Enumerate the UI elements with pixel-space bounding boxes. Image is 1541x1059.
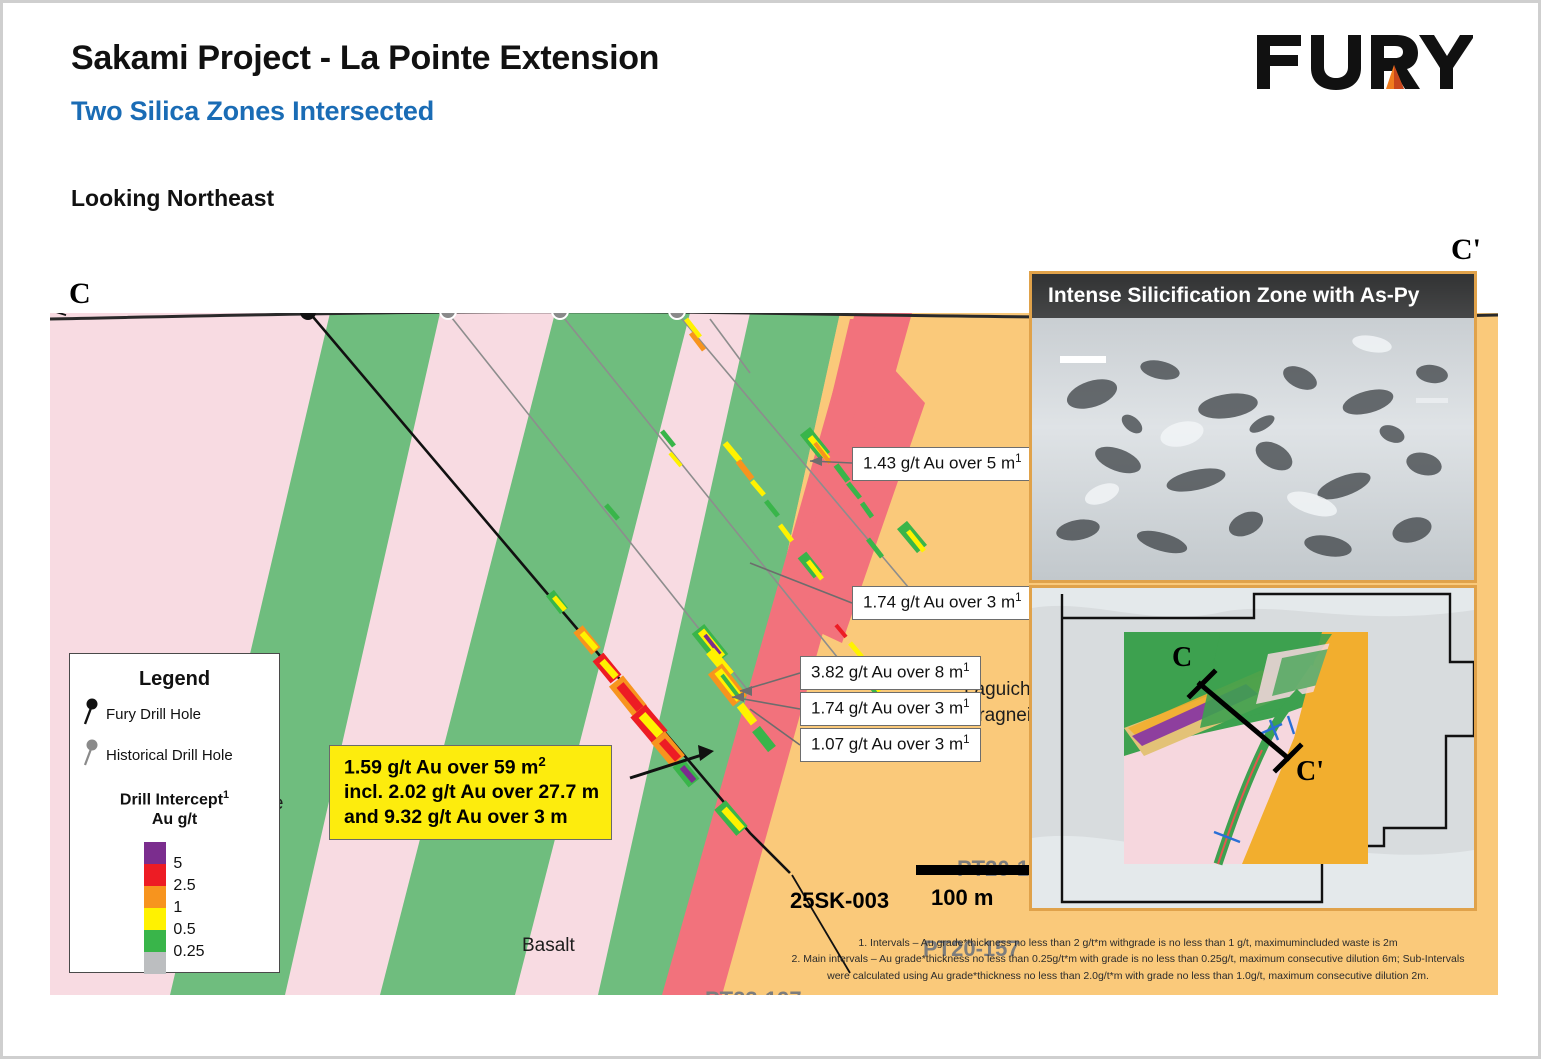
fury-drill-hole-icon <box>80 697 102 732</box>
ramp-swatch-5 <box>144 842 166 864</box>
legend-panel: Legend Fury Drill Hole Historical Drill … <box>69 653 280 973</box>
page-title: Sakami Project - La Pointe Extension <box>71 39 659 78</box>
legend-item-fury-drill-hole: Fury Drill Hole <box>80 697 279 732</box>
callout-intercept-1: 1.43 g/t Au over 5 m1 <box>852 447 1033 481</box>
callout-1-sup: 1 <box>1015 453 1021 465</box>
scale-bar-label: 100 m <box>931 885 993 911</box>
legend-ramp-title: Drill Intercept1 Au g/t <box>70 789 279 830</box>
legend-title: Legend <box>70 668 279 691</box>
footnote-line-1: 1. Intervals – Au grade*thickness no les… <box>763 935 1493 951</box>
legend-item-fury-label: Fury Drill Hole <box>106 706 201 723</box>
core-photo-inset: Intense Silicification Zone with As-Py <box>1029 271 1477 583</box>
ramp-swatch-base <box>144 952 166 974</box>
ramp-swatch-1 <box>144 886 166 908</box>
core-photo-image <box>1032 274 1474 580</box>
color-ramp-swatches <box>144 842 166 974</box>
callout-5-sup: 1 <box>963 734 969 746</box>
ramp-value-1: 1 <box>173 897 204 919</box>
callout-4-sup: 1 <box>963 698 969 710</box>
highlight-intercept-box: 1.59 g/t Au over 59 m2 incl. 2.02 g/t Au… <box>329 745 612 840</box>
callout-2-sup: 1 <box>1015 592 1021 604</box>
map-section-end-label: C' <box>1296 756 1324 788</box>
footnote-line-3: were calculated using Au grade*thickness… <box>763 968 1493 984</box>
callout-2-text: 1.74 g/t Au over 3 m <box>863 593 1015 612</box>
map-section-start-label: C <box>1172 642 1192 674</box>
ramp-swatch-0-5 <box>144 908 166 930</box>
ramp-value-2-5: 2.5 <box>173 875 204 897</box>
callout-intercept-2: 1.74 g/t Au over 3 m1 <box>852 586 1033 620</box>
callout-intercept-5: 1.07 g/t Au over 3 m1 <box>800 728 981 762</box>
footnote-line-2: 2. Main intervals – Au grade*thickness n… <box>763 951 1493 967</box>
highlight-line-2: incl. 2.02 g/t Au over 27.7 m <box>344 781 599 803</box>
callout-4-text: 1.74 g/t Au over 3 m <box>811 699 963 718</box>
section-end-label: C' <box>1451 233 1481 267</box>
legend-color-ramp: 5 2.5 1 0.5 0.25 <box>70 842 279 974</box>
callout-3-sup: 1 <box>963 662 969 674</box>
ramp-value-0-5: 0.5 <box>173 919 204 941</box>
slide-canvas: Sakami Project - La Pointe Extension Two… <box>0 0 1541 1059</box>
section-start-label: C <box>69 277 91 311</box>
color-ramp-values: 5 2.5 1 0.5 0.25 <box>173 842 204 974</box>
callout-1-text: 1.43 g/t Au over 5 m <box>863 454 1015 473</box>
page-subtitle: Two Silica Zones Intersected <box>71 96 434 127</box>
drill-hole-label-25sk-003: 25SK-003 <box>790 888 889 914</box>
legend-item-historical-label: Historical Drill Hole <box>106 747 233 764</box>
view-direction-label: Looking Northeast <box>71 185 274 212</box>
highlight-line-1-sup: 2 <box>538 754 545 769</box>
ramp-title-line-1: Drill Intercept <box>120 791 223 808</box>
location-map-image <box>1032 588 1474 908</box>
callout-3-text: 3.82 g/t Au over 8 m <box>811 663 963 682</box>
highlight-line-3: and 9.32 g/t Au over 3 m <box>344 806 568 828</box>
ramp-value-0-25: 0.25 <box>173 941 204 963</box>
highlight-line-1: 1.59 g/t Au over 59 m <box>344 757 538 779</box>
unit-label-basalt: Basalt <box>522 935 575 957</box>
footnotes: 1. Intervals – Au grade*thickness no les… <box>763 935 1493 984</box>
legend-item-historical-drill-hole: Historical Drill Hole <box>80 738 279 773</box>
historical-drill-hole-icon <box>80 738 102 773</box>
ramp-swatch-2-5 <box>144 864 166 886</box>
callout-5-text: 1.07 g/t Au over 3 m <box>811 735 963 754</box>
location-map-inset: C C' <box>1029 585 1477 911</box>
callout-intercept-3: 3.82 g/t Au over 8 m1 <box>800 656 981 690</box>
fury-logo <box>1255 31 1473 93</box>
ramp-swatch-0-25 <box>144 930 166 952</box>
drill-hole-label-pt23-197: PT23-197 <box>705 987 802 995</box>
ramp-title-sup: 1 <box>223 789 229 801</box>
core-photo-caption: Intense Silicification Zone with As-Py <box>1032 274 1474 318</box>
ramp-value-5: 5 <box>173 853 204 875</box>
ramp-title-line-2: Au g/t <box>152 811 197 828</box>
callout-intercept-4: 1.74 g/t Au over 3 m1 <box>800 692 981 726</box>
